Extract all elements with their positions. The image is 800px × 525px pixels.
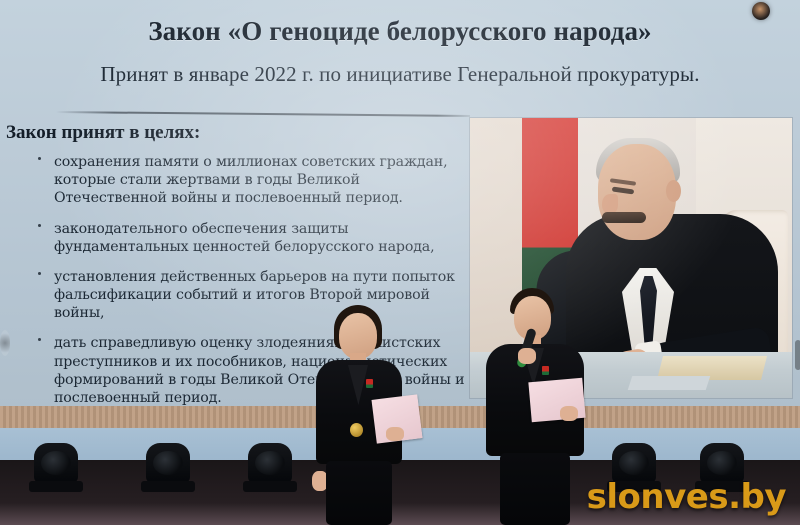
- aims-heading: Закон принят в целях:: [6, 122, 474, 144]
- presenter-hand: [560, 406, 578, 421]
- photo-head: [598, 144, 676, 240]
- bullet-text: сохранения памяти о миллионах советских …: [54, 154, 447, 206]
- bullet-dot-icon: [38, 157, 41, 160]
- ceiling-fixture-icon: [752, 2, 770, 20]
- photo-ear: [666, 180, 681, 202]
- slide-subtitle: Принят в январе 2022 г. по инициативе Ге…: [0, 62, 800, 87]
- bullet-dot-icon: [38, 338, 41, 341]
- presenter-trousers: [326, 461, 392, 525]
- slide-title: Закон «О геноциде белорусского народа»: [0, 16, 800, 47]
- list-item: сохранения памяти о миллионах советских …: [4, 153, 474, 208]
- flag-pin-icon: [542, 366, 549, 375]
- presenter-hand: [386, 427, 404, 441]
- presenter-hand: [518, 348, 536, 364]
- bullet-dot-icon: [38, 224, 41, 227]
- left-wall-fixture: [0, 330, 10, 356]
- female-presenter: [300, 305, 420, 525]
- stage-light: [146, 443, 190, 483]
- photo-scene: Закон «О геноциде белорусского народа» П…: [0, 0, 800, 525]
- presenter-trousers: [500, 453, 570, 525]
- stage-light: [248, 443, 292, 483]
- watermark: slonves.by: [587, 477, 786, 517]
- brooch-icon: [350, 423, 363, 437]
- male-presenter: [478, 288, 600, 525]
- bullet-text: законодательного обеспечения защиты фунд…: [54, 221, 434, 255]
- flag-pin-icon: [366, 379, 373, 388]
- photo-moustache: [602, 212, 646, 223]
- title-divider: [56, 111, 470, 117]
- photo-nose: [602, 194, 618, 214]
- stage-light: [34, 443, 78, 483]
- list-item: законодательного обеспечения защиты фунд…: [4, 220, 474, 256]
- photo-desk-document: [628, 376, 711, 390]
- bullet-dot-icon: [38, 272, 41, 275]
- right-wall-edge: [795, 340, 800, 370]
